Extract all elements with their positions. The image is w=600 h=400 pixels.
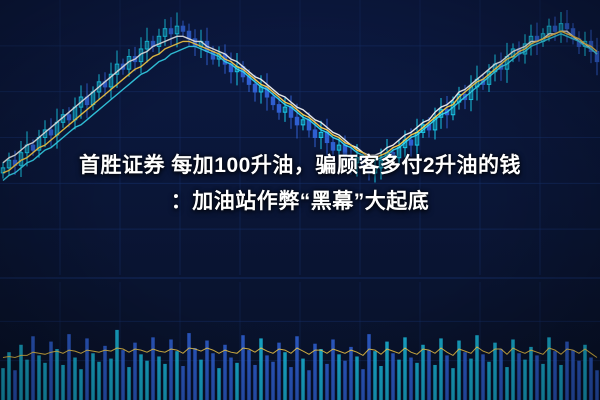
headline-line-2: ：加油站作弊“黑幕”大起底 xyxy=(14,184,586,220)
headline-line-1: 首胜证券 每加100升油，骗顾客多付2升油的钱 xyxy=(79,154,521,177)
stock-chart-screenshot: 首胜证券 每加100升油，骗顾客多付2升油的钱 ：加油站作弊“黑幕”大起底 xyxy=(0,0,600,400)
headline-overlay: 首胜证券 每加100升油，骗顾客多付2升油的钱 ：加油站作弊“黑幕”大起底 xyxy=(0,148,600,220)
